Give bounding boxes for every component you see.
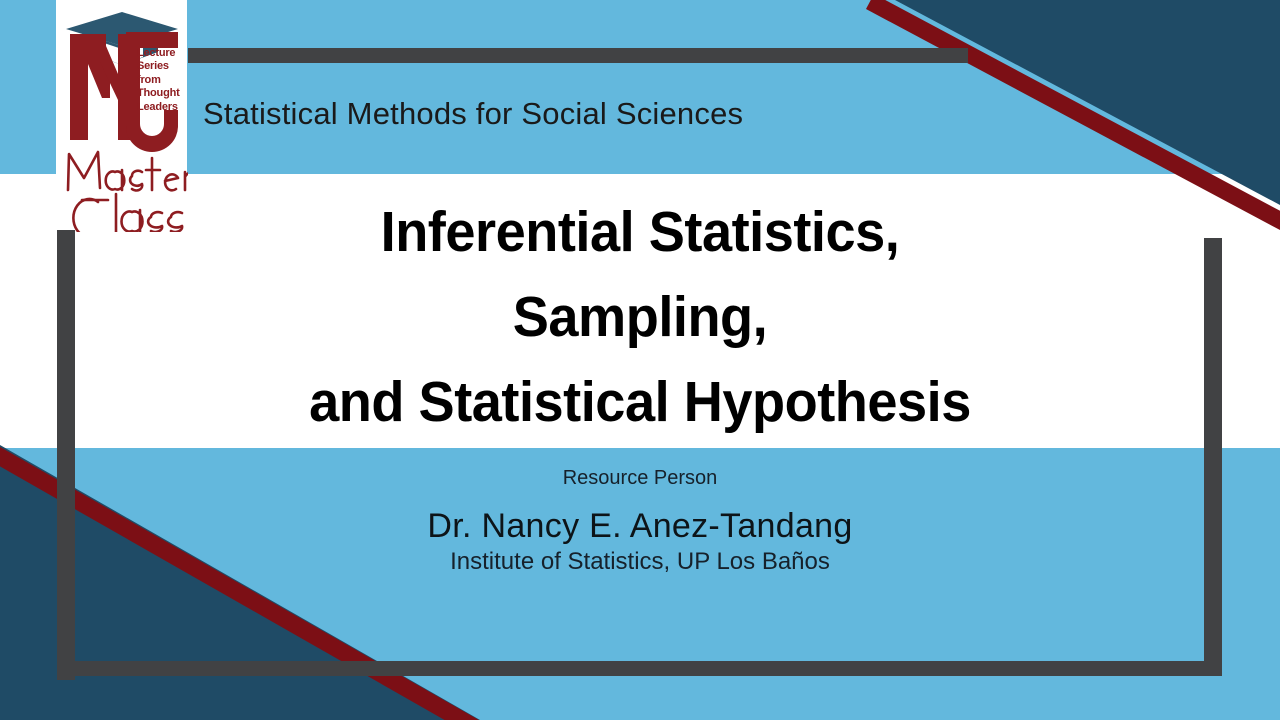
logo-tagline: Lecture Series from Thought Leaders	[137, 47, 189, 114]
speaker-affiliation: Institute of Statistics, UP Los Baños	[0, 548, 1280, 576]
logo-tagline-line-5: Leaders	[137, 101, 178, 113]
frame-top-bar	[188, 48, 968, 63]
page-title-line-3: and Statistical Hypothesis	[32, 360, 1248, 445]
resource-person-label: Resource Person	[0, 467, 1280, 490]
logo-tagline-line-1: Lecture	[137, 47, 175, 59]
logo-tagline-line-2: Series	[137, 60, 169, 72]
top-right-navy-triangle	[895, 0, 1280, 205]
logo-tagline-line-4: Thought	[137, 87, 180, 99]
logo-tagline-line-3: from	[137, 74, 161, 86]
page-title-line-1: Inferential Statistics,	[32, 190, 1248, 275]
page-title: Inferential Statistics, Sampling, and St…	[32, 190, 1248, 445]
course-title: Statistical Methods for Social Sciences	[203, 96, 743, 132]
frame-bottom-bar	[57, 661, 1222, 676]
page-title-line-2: Sampling,	[32, 275, 1248, 360]
speaker-name: Dr. Nancy E. Anez-Tandang	[0, 507, 1280, 546]
presentation-slide: Lecture Series from Thought Leaders Stat…	[0, 0, 1280, 720]
